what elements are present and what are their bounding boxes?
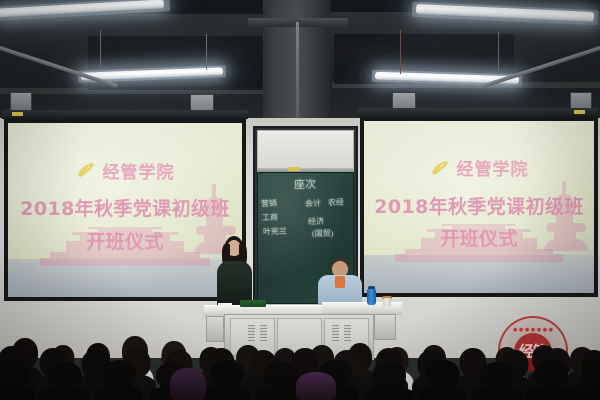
blackboard-left-2: 工商 <box>262 214 278 223</box>
blackboard-right-2: 农经 <box>328 199 344 208</box>
audience-member <box>206 362 248 400</box>
left-slide: 经管学院 2018年秋季党课初级班 开班仪式 <box>8 123 242 297</box>
presenter-collar <box>335 276 345 288</box>
right-slide-title: 2018年秋季党课初级班 <box>364 192 594 219</box>
ceiling <box>0 0 600 122</box>
standing-speaker <box>214 236 254 308</box>
right-slide-institution: 经管学院 <box>456 155 528 180</box>
blackboard-left-1: 营销 <box>261 200 277 209</box>
left-slide-subtitle: 开班仪式 <box>8 227 242 254</box>
right-slide-subtitle: 开班仪式 <box>364 224 594 251</box>
audience-member <box>476 364 518 400</box>
light-hanger <box>498 32 499 74</box>
light-hanger <box>100 30 101 70</box>
hammer-and-sickle-emblem <box>429 159 449 177</box>
hammer-and-sickle-emblem <box>75 161 95 179</box>
left-slide-heading-row: 经管学院 <box>8 158 242 183</box>
blackboard-left-3: 叶宪兰 <box>263 228 287 237</box>
duct-seam <box>296 22 299 122</box>
audience-member <box>0 362 32 400</box>
photo-scene: 座次 营销 工商 叶宪兰 会计 农经 经济 (国贸) <box>0 0 600 400</box>
laptop[interactable] <box>240 300 266 307</box>
right-slide: 经管学院 2018年秋季党课初级班 开班仪式 <box>364 121 594 293</box>
left-screen-mount <box>2 110 248 119</box>
audience-member-highlight <box>170 368 206 400</box>
paper-cup[interactable] <box>383 298 391 306</box>
blackboard-right-3: 经济 <box>308 218 324 227</box>
blackboard-heading: 座次 <box>294 180 316 192</box>
ledge-marker <box>288 167 300 171</box>
audience-member <box>530 362 572 400</box>
whiteboard <box>257 130 354 170</box>
audience-member <box>98 362 140 400</box>
audience-member <box>422 362 464 400</box>
left-projection-screen[interactable]: 经管学院 2018年秋季党课初级班 开班仪式 <box>4 119 246 301</box>
water-bottle[interactable] <box>367 289 376 305</box>
audience-member <box>44 364 86 400</box>
light-hanger <box>206 34 207 70</box>
right-screen-mount <box>358 108 598 117</box>
audience-member-highlight <box>296 372 336 400</box>
blackboard-right-4: (国贸) <box>312 230 333 239</box>
left-slide-institution: 经管学院 <box>102 158 174 183</box>
audience-member <box>368 364 410 400</box>
audience-member <box>578 364 600 400</box>
papers <box>218 303 232 307</box>
right-mount-sticker <box>574 110 585 114</box>
left-mount-sticker <box>12 112 23 116</box>
right-projection-screen[interactable]: 经管学院 2018年秋季党课初级班 开班仪式 <box>360 117 598 297</box>
right-slide-heading-row: 经管学院 <box>364 155 594 180</box>
light-hanger <box>400 30 401 74</box>
left-slide-title: 2018年秋季党课初级班 <box>8 194 242 221</box>
blackboard-right-1: 会计 <box>305 200 321 209</box>
